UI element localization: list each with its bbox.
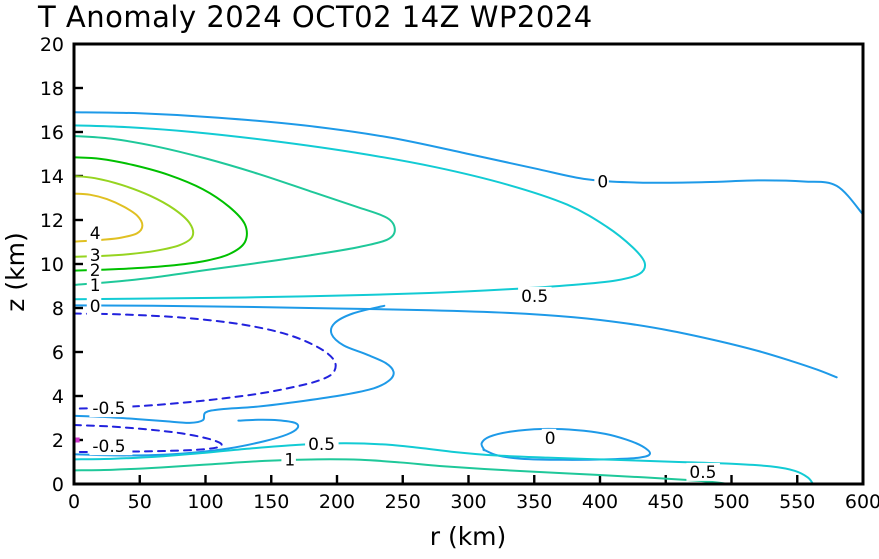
- y-tick-label: 4: [52, 386, 64, 408]
- y-tick-label: 20: [40, 34, 64, 56]
- contour-label-0: 0: [545, 429, 556, 449]
- y-tick-label: 16: [40, 122, 64, 144]
- contour-label-0.5: 0.5: [521, 287, 548, 307]
- y-axis-title: z (km): [1, 232, 30, 311]
- contour-label-1: 1: [90, 276, 101, 296]
- y-tick-label: 2: [52, 430, 64, 452]
- contour-label-4: 4: [90, 224, 101, 244]
- x-axis-title: r (km): [430, 522, 507, 551]
- y-tick-label: 10: [40, 254, 64, 276]
- x-tick-label: 150: [253, 491, 289, 513]
- contour-label-0: 0: [597, 173, 608, 193]
- x-tick-label: 200: [319, 491, 355, 513]
- x-tick-label: 350: [516, 491, 552, 513]
- x-tick-label: 450: [648, 491, 684, 513]
- x-tick-label: 600: [845, 491, 879, 513]
- x-tick-label: 250: [385, 491, 421, 513]
- x-tick-label: 500: [713, 491, 749, 513]
- x-tick-label: 50: [128, 491, 152, 513]
- contour-label--0.5: -0.5: [92, 437, 125, 457]
- contour-plot-figure: T Anomaly 2024 OCT02 14Z WP2024 02468101…: [0, 0, 879, 559]
- contour-label--0.5: -0.5: [92, 399, 125, 419]
- contour-label-1: 1: [284, 450, 295, 470]
- contour-label-0.5: 0.5: [308, 435, 335, 455]
- x-tick-label: 300: [450, 491, 486, 513]
- y-tick-label: 14: [40, 166, 64, 188]
- x-tick-label: 0: [68, 491, 80, 513]
- figure-title: T Anomaly 2024 OCT02 14Z WP2024: [37, 0, 593, 34]
- contour-label-0: 0: [90, 297, 101, 317]
- figure-canvas: T Anomaly 2024 OCT02 14Z WP2024 02468101…: [0, 0, 879, 559]
- y-tick-label: 12: [40, 210, 64, 232]
- x-tick-label: 400: [582, 491, 618, 513]
- x-tick-label: 550: [779, 491, 815, 513]
- y-tick-label: 0: [52, 474, 64, 496]
- x-tick-label: 100: [187, 491, 223, 513]
- y-tick-label: 18: [40, 78, 64, 100]
- y-tick-label: 6: [52, 342, 64, 364]
- y-tick-label: 8: [52, 298, 64, 320]
- contour-label-0.5: 0.5: [689, 463, 716, 483]
